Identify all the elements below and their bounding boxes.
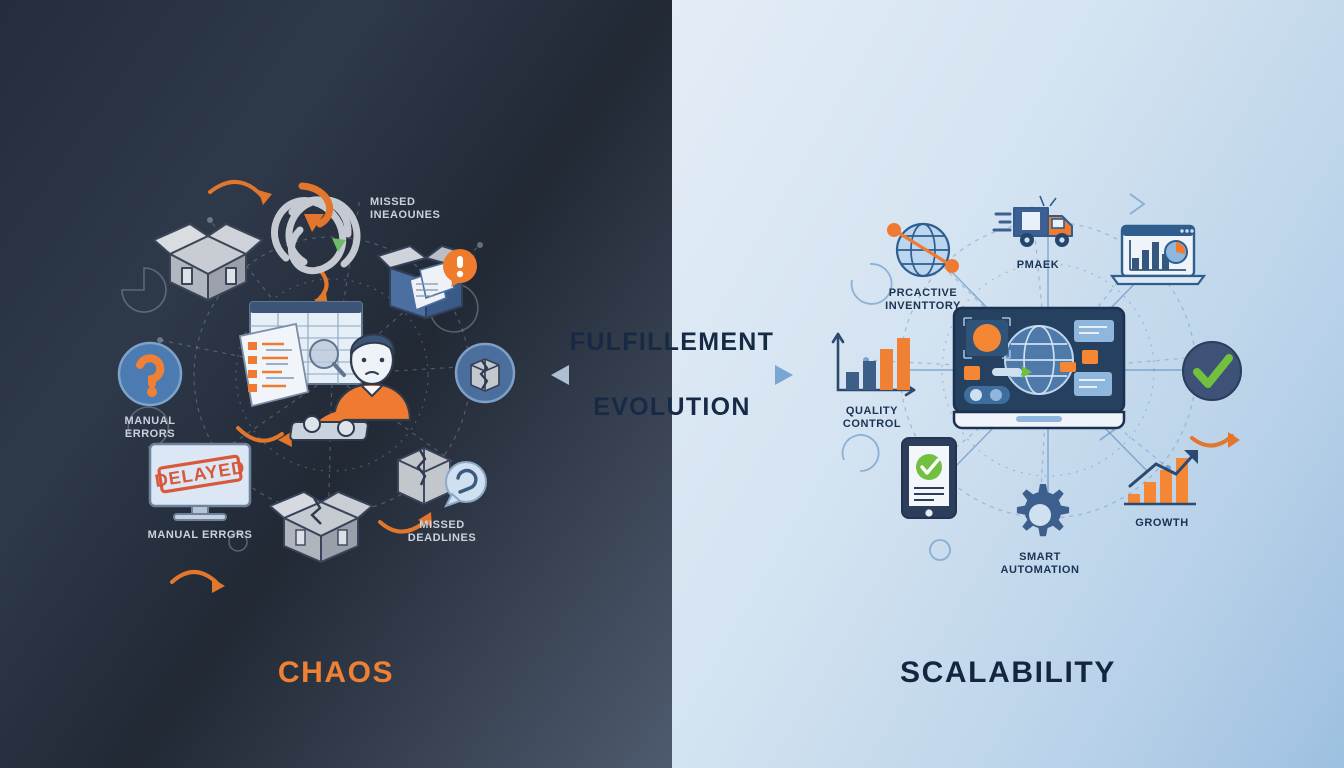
tablet-with-check-icon: [896, 436, 962, 520]
node-proactive-inventory: PRCACTIVE INVENTTORY: [880, 212, 966, 314]
cracked-box-with-speech-bubble-icon: [390, 438, 494, 514]
frustrated-worker-at-desk-icon: [238, 296, 438, 446]
smart-dashboard-screen-icon: [948, 306, 1130, 434]
node-label: PMAEK: [994, 259, 1082, 272]
node-growth: GROWTH: [1120, 450, 1204, 530]
growth-bars-with-arrow-icon: [1120, 450, 1204, 512]
node-tangled-arrows: [258, 172, 376, 290]
fulfillment-title-line2: EVOLUTION: [462, 395, 882, 420]
check-circle-icon: [1178, 338, 1246, 404]
delivery-truck-icon: [994, 196, 1082, 254]
node-label: GROWTH: [1120, 517, 1204, 530]
gear-icon: [1000, 484, 1080, 546]
caption-chaos: CHAOS: [0, 656, 672, 690]
question-mark-circle-icon: [110, 338, 190, 410]
node-fast-delivery: PMAEK: [994, 196, 1082, 272]
double-headed-horizontal-arrow-icon: [527, 364, 817, 386]
node-smart-automation: SMART AUTOMATION: [1000, 484, 1080, 578]
laptop-with-analytics-icon: [1108, 222, 1208, 294]
left-hub-frustrated-worker: [238, 296, 438, 446]
node-approved-tablet: [896, 436, 962, 520]
center-transition-band: FULFILLEMENT EVOLUTION: [462, 330, 882, 420]
caption-scalability: SCALABILITY: [672, 656, 1344, 690]
fulfillment-title-line1: FULFILLEMENT: [462, 330, 882, 355]
node-crushed-box: [266, 474, 376, 566]
floating-label-missed-inbound: MISSED INEAOUNES: [370, 196, 440, 223]
node-label: MISSED DEADLINES: [390, 519, 494, 546]
node-label: SMART AUTOMATION: [1000, 551, 1080, 578]
monitor-with-delayed-stamp-icon: DELAYED: [140, 440, 260, 524]
growth-chart: [1122, 450, 1202, 512]
node-analytics-laptop: [1108, 222, 1208, 294]
node-label: MANUAL ERRORS: [110, 415, 190, 442]
node-open-box: [148, 196, 268, 306]
node-label: MANUAL ERRGRS: [140, 529, 260, 542]
node-missed-deadlines: MISSED DEADLINES: [390, 438, 494, 546]
globe-with-route-pins-icon: [880, 212, 966, 282]
infographic-canvas: MANUAL ERRORS: [0, 0, 1344, 768]
node-verified-check: [1178, 338, 1246, 404]
node-manual-errors-question: MANUAL ERRORS: [110, 338, 190, 442]
right-hub-dashboard: [948, 306, 1130, 434]
tangled-knot-arrows-icon: [258, 172, 376, 290]
double-arrow-row: [462, 364, 882, 386]
open-cardboard-box-icon: [148, 196, 268, 306]
node-delayed-monitor: DELAYED MANUAL ERRGRS: [140, 440, 260, 542]
crushed-box-icon: [266, 474, 376, 566]
